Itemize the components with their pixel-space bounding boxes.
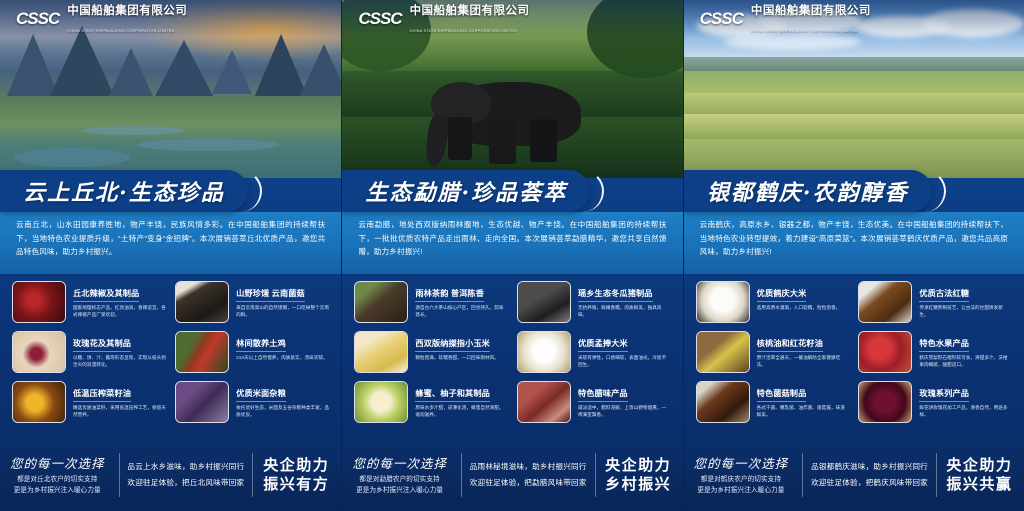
product-grid: 优质鹤庆大米 选用高原水灌溉，入口软糯，粒粒饱香。 优质古法红糖 传承红糖熬制技… bbox=[696, 281, 1012, 423]
logo-block: CSSC 中国船舶集团有限公司 CHINA STATE SHIPBUILDING… bbox=[684, 0, 1024, 38]
product-desc: 各式干菌、腌乳菌、油炸菌、菌菇酱，味道鲜美。 bbox=[757, 404, 850, 419]
product-card[interactable]: 瑶乡生态冬瓜猪制品 无抗养殖，鲜嫩香糯，肉质鲜美，独具风味。 bbox=[517, 281, 671, 323]
product-thumbnail bbox=[12, 381, 66, 423]
product-info: 核桃油和红花籽油 原汁活萃全通天，一餐油解防全家健康吃法。 bbox=[757, 331, 850, 369]
rose-product-photo-icon bbox=[859, 382, 911, 422]
footer-pledge-line-2: 更是为乡村振兴注入暖心力量 bbox=[694, 486, 789, 497]
cssc-logo-icon: CSSC bbox=[700, 9, 743, 29]
pig-photo-icon bbox=[518, 282, 570, 322]
panel-footer: 您的每一次选择 都是对鹤庆农户的切实支持 更是为乡村振兴注入暖心力量 品银都鹤庆… bbox=[684, 439, 1024, 511]
product-thumbnail bbox=[175, 331, 229, 373]
product-name: 特色腊味产品 bbox=[578, 389, 628, 402]
panel-title: 银都鹤庆·农韵醇香 bbox=[707, 175, 909, 207]
product-desc: 鹤庆雪梨籽石榴籽软可食，清甜多汁，沃柑果肉细腻，酸甜适口。 bbox=[919, 354, 1012, 369]
footer-slogan-line-1: 央企助力 bbox=[945, 456, 1014, 476]
panel-mengla: CSSC 中国船舶集团有限公司 CHINA STATE SHIPBUILDING… bbox=[341, 0, 682, 511]
footer-pledge-line-2: 更是为乡村振兴注入暖心力量 bbox=[10, 486, 105, 497]
hero-image-qiubei: CSSC 中国船舶集团有限公司 CHINA STATE SHIPBUILDING… bbox=[0, 0, 341, 178]
product-grid: 雨林茶韵 普洱陈香 源自古六大茶山核心产区，回甘持久，韵味悠长。 瑶乡生态冬瓜猪… bbox=[354, 281, 670, 423]
product-name: 特色水果产品 bbox=[919, 339, 969, 352]
product-name: 西双版纳搩指小玉米 bbox=[415, 339, 490, 352]
rice-photo-icon bbox=[518, 332, 570, 372]
product-name: 核桃油和红花籽油 bbox=[757, 339, 823, 352]
product-desc: 精选优质油菜籽，采用低温压榨工艺，保留天然营养。 bbox=[73, 404, 166, 419]
title-ribbon: 银都鹤庆·农韵醇香 bbox=[684, 170, 932, 212]
logo-text: 中国船舶集团有限公司 CHINA STATE SHIPBUILDING CORP… bbox=[67, 1, 187, 37]
footer-invite-line-2: 欢迎驻足体验，把勐腊风味带回家 bbox=[470, 475, 587, 491]
product-card[interactable]: 特色菌菇制品 各式干菌、腌乳菌、油炸菌、菌菇酱，味道鲜美。 bbox=[696, 381, 850, 423]
product-card[interactable]: 低温压榨菜籽油 精选优质油菜籽，采用低温压榨工艺，保留天然营养。 bbox=[12, 381, 166, 423]
product-thumbnail bbox=[175, 381, 229, 423]
product-thumbnail bbox=[354, 331, 408, 373]
logo-block: CSSC 中国船舶集团有限公司 CHINA STATE SHIPBUILDING… bbox=[342, 0, 682, 38]
product-info: 丘北辣椒及其制品 国家地理标志产品，红亮油润，香辣适宜，各式辣椒产品广受欢迎。 bbox=[73, 281, 166, 319]
product-info: 优质古法红糖 传承红糖熬制技艺，让古法的甘甜焕发新生。 bbox=[919, 281, 1012, 319]
product-info: 瑶乡生态冬瓜猪制品 无抗养殖，鲜嫩香糯，肉质鲜美，独具风味。 bbox=[578, 281, 671, 319]
hero-image-heqing: CSSC 中国船舶集团有限公司 CHINA STATE SHIPBUILDING… bbox=[684, 0, 1024, 178]
footer-invite-line-2: 欢迎驻足体验，把鹤庆风味带回家 bbox=[811, 475, 928, 491]
product-desc: 以糖、饼、汁、露等形态呈现，实现从枝头到舌尖的浪漫转化。 bbox=[73, 354, 166, 369]
product-desc: 米软有弹性，口感细软，表面油光，冷饭不回生。 bbox=[578, 354, 671, 369]
footer-script-headline: 您的每一次选择 bbox=[352, 453, 447, 472]
product-info: 优质鹤庆大米 选用高原水灌溉，入口软糯，粒粒饱香。 bbox=[757, 281, 850, 311]
product-desc: 选用高原水灌溉，入口软糯，粒粒饱香。 bbox=[757, 304, 850, 311]
puer-tea-photo-icon bbox=[355, 282, 407, 322]
footer-script-headline: 您的每一次选择 bbox=[694, 453, 789, 472]
cured-meat-photo-icon bbox=[518, 382, 570, 422]
product-info: 优质孟捧大米 米软有弹性，口感细软，表面油光，冷饭不回生。 bbox=[578, 331, 671, 369]
footer-pledge: 您的每一次选择 都是对鹤庆农户的切实支持 更是为乡村振兴注入暖心力量 bbox=[694, 453, 795, 496]
logo-company-en: CHINA STATE SHIPBUILDING CORPORATION LIM… bbox=[410, 29, 517, 33]
footer-pledge: 您的每一次选择 都是对丘北农户的切实支持 更是为乡村振兴注入暖心力量 bbox=[10, 453, 111, 496]
product-desc: 国家地理标志产品，红亮油润，香辣适宜，各式辣椒产品广受欢迎。 bbox=[73, 304, 166, 319]
footer-slogan-line-2: 振兴有方 bbox=[261, 475, 331, 495]
product-name: 丘北辣椒及其制品 bbox=[73, 289, 139, 302]
brown-sugar-photo-icon bbox=[859, 282, 911, 322]
title-ribbon: 云上丘北·生态珍品 bbox=[0, 170, 248, 212]
product-card[interactable]: 核桃油和红花籽油 原汁活萃全通天，一餐油解防全家健康吃法。 bbox=[696, 331, 850, 373]
footer-divider bbox=[461, 453, 462, 497]
product-name: 优质古法红糖 bbox=[919, 289, 969, 302]
product-thumbnail bbox=[175, 281, 229, 323]
footer-invite: 品云上水乡滋味，助乡村振兴同行 欢迎驻足体验，把丘北风味带回家 bbox=[127, 459, 244, 490]
footer-script-headline: 您的每一次选择 bbox=[10, 453, 105, 472]
product-card[interactable]: 特色水果产品 鹤庆雪梨籽石榴籽软可食，清甜多汁，沃柑果肉细腻，酸甜适口。 bbox=[858, 331, 1012, 373]
product-desc: 原汁活萃全通天，一餐油解防全家健康吃法。 bbox=[757, 354, 850, 369]
product-thumbnail bbox=[696, 331, 750, 373]
product-card[interactable]: 山野珍馐 云南菌菇 来自云南高山的自然馈赠，一口吃掉整个云南的鲜。 bbox=[175, 281, 329, 323]
product-grid: 丘北辣椒及其制品 国家地理标志产品，红亮油润，香辣适宜，各式辣椒产品广受欢迎。 … bbox=[12, 281, 329, 423]
footer-pledge: 您的每一次选择 都是对勐腊农户的切实支持 更是为乡村振兴注入暖心力量 bbox=[352, 453, 453, 496]
product-card[interactable]: 优质米面杂粮 依托优好生态，米面及五谷杂粮种类丰富，品质优良。 bbox=[175, 381, 329, 423]
hero-image-mengla: CSSC 中国船舶集团有限公司 CHINA STATE SHIPBUILDING… bbox=[342, 0, 682, 178]
product-card[interactable]: 优质鹤庆大米 选用高原水灌溉，入口软糯，粒粒饱香。 bbox=[696, 281, 850, 323]
product-desc: 传承红糖熬制技艺，让古法的甘甜焕发新生。 bbox=[919, 304, 1012, 319]
corn-photo-icon bbox=[355, 332, 407, 372]
product-card[interactable]: 优质古法红糖 传承红糖熬制技艺，让古法的甘甜焕发新生。 bbox=[858, 281, 1012, 323]
product-thumbnail bbox=[12, 281, 66, 323]
title-ribbon: 生态勐腊·珍品荟萃 bbox=[342, 170, 590, 212]
fruit-photo-icon bbox=[859, 332, 911, 372]
product-card[interactable]: 特色腊味产品 咸淡适中，腊料浸解，上等山野柴烟熏，一烤满室飘香。 bbox=[517, 381, 671, 423]
product-info: 林间散养土鸡 210天以上自然慢养，肉质紧实，汤味浓郁。 bbox=[236, 331, 329, 361]
logo-company-en: CHINA STATE SHIPBUILDING CORPORATION LIM… bbox=[751, 29, 858, 33]
product-card[interactable]: 玫瑰系列产品 鲜花饼玫瑰花加工产品，清香自然，用途多样。 bbox=[858, 381, 1012, 423]
product-info: 西双版纳搩指小玉米 颗粒饱满，软糯香甜，一口回味雨林风。 bbox=[415, 331, 508, 361]
intro-paragraph: 云南勐腊，地处西双版纳雨林腹地，生态优越、物产丰饶。在中国船舶集团的持续帮扶下，… bbox=[358, 218, 666, 259]
logo-text: 中国船舶集团有限公司 CHINA STATE SHIPBUILDING CORP… bbox=[751, 1, 871, 37]
chicken-photo-icon bbox=[176, 332, 228, 372]
chili-photo-icon bbox=[13, 282, 65, 322]
product-name: 优质孟捧大米 bbox=[578, 339, 628, 352]
product-thumbnail bbox=[858, 381, 912, 423]
product-thumbnail bbox=[354, 281, 408, 323]
product-thumbnail bbox=[517, 281, 571, 323]
footer-divider bbox=[936, 453, 937, 497]
product-info: 山野珍馐 云南菌菇 来自云南高山的自然馈赠，一口吃掉整个云南的鲜。 bbox=[236, 281, 329, 319]
product-desc: 210天以上自然慢养，肉质紧实，汤味浓郁。 bbox=[236, 354, 329, 361]
product-name: 蜂蜜、柚子和其制品 bbox=[415, 389, 490, 402]
footer-slogan: 央企助力 振兴共赢 bbox=[945, 456, 1014, 495]
footer-slogan-line-2: 振兴共赢 bbox=[945, 475, 1014, 495]
heqing-rice-photo-icon bbox=[697, 282, 749, 322]
product-desc: 鲜花饼玫瑰花加工产品，清香自然，用途多样。 bbox=[919, 404, 1012, 419]
logo-company-en: CHINA STATE SHIPBUILDING CORPORATION LIM… bbox=[67, 29, 174, 33]
footer-invite-line-1: 品云上水乡滋味，助乡村振兴同行 bbox=[127, 459, 244, 475]
product-name: 优质鹤庆大米 bbox=[757, 289, 807, 302]
product-card[interactable]: 林间散养土鸡 210天以上自然慢养，肉质紧实，汤味浓郁。 bbox=[175, 331, 329, 373]
product-info: 玫瑰花及其制品 以糖、饼、汁、露等形态呈现，实现从枝头到舌尖的浪漫转化。 bbox=[73, 331, 166, 369]
intro-paragraph: 云南鹤庆，高原水乡、银器之都，物产丰饶，生态优美。在中国船舶集团的持续帮扶下，当… bbox=[700, 218, 1008, 259]
footer-invite-line-1: 品银都鹤庆滋味，助乡村振兴同行 bbox=[811, 459, 928, 475]
walnut-oil-photo-icon bbox=[697, 332, 749, 372]
logo-block: CSSC 中国船舶集团有限公司 CHINA STATE SHIPBUILDING… bbox=[0, 0, 341, 38]
footer-invite-line-2: 欢迎驻足体验，把丘北风味带回家 bbox=[127, 475, 244, 491]
product-card[interactable]: 丘北辣椒及其制品 国家地理标志产品，红亮油润，香辣适宜，各式辣椒产品广受欢迎。 bbox=[12, 281, 166, 323]
product-desc: 源自古六大茶山核心产区，回甘持久，韵味悠长。 bbox=[415, 304, 508, 319]
product-desc: 无抗养殖，鲜嫩香糯，肉质鲜美，独具风味。 bbox=[578, 304, 671, 319]
product-thumbnail bbox=[858, 331, 912, 373]
footer-pledge-line-1: 都是对鹤庆农户的切实支持 bbox=[694, 475, 789, 486]
product-desc: 颗粒饱满，软糯香甜，一口回味雨林风。 bbox=[415, 354, 508, 361]
footer-slogan: 央企助力 乡村振兴 bbox=[604, 456, 673, 495]
product-info: 雨林茶韵 普洱陈香 源自古六大茶山核心产区，回甘持久，韵味悠长。 bbox=[415, 281, 508, 319]
product-card[interactable]: 西双版纳搩指小玉米 颗粒饱满，软糯香甜，一口回味雨林风。 bbox=[354, 331, 508, 373]
footer-slogan-line-1: 央企助力 bbox=[261, 456, 331, 476]
product-info: 优质米面杂粮 依托优好生态，米面及五谷杂粮种类丰富，品质优良。 bbox=[236, 381, 329, 419]
rapeseed-oil-photo-icon bbox=[13, 382, 65, 422]
footer-slogan-line-1: 央企助力 bbox=[604, 456, 673, 476]
product-card[interactable]: 优质孟捧大米 米软有弹性，口感细软，表面油光，冷饭不回生。 bbox=[517, 331, 671, 373]
mushroom-photo-icon bbox=[176, 282, 228, 322]
product-name: 林间散养土鸡 bbox=[236, 339, 286, 352]
footer-divider bbox=[802, 453, 803, 497]
product-thumbnail bbox=[517, 381, 571, 423]
cssc-logo-icon: CSSC bbox=[358, 9, 401, 29]
product-thumbnail bbox=[354, 381, 408, 423]
product-info: 特色菌菇制品 各式干菌、腌乳菌、油炸菌、菌菇酱，味道鲜美。 bbox=[757, 381, 850, 419]
footer-divider bbox=[252, 453, 253, 497]
product-name: 山野珍馐 云南菌菇 bbox=[236, 289, 305, 302]
panel-title: 生态勐腊·珍品荟萃 bbox=[365, 175, 567, 207]
logo-company-cn: 中国船舶集团有限公司 bbox=[410, 5, 530, 17]
honey-pomelo-photo-icon bbox=[355, 382, 407, 422]
cssc-logo-icon: CSSC bbox=[16, 9, 59, 29]
product-info: 玫瑰系列产品 鲜花饼玫瑰花加工产品，清香自然，用途多样。 bbox=[919, 381, 1012, 419]
footer-pledge-line-1: 都是对丘北农户的切实支持 bbox=[10, 475, 105, 486]
footer-divider bbox=[119, 453, 120, 497]
product-name: 玫瑰系列产品 bbox=[919, 389, 969, 402]
product-info: 特色水果产品 鹤庆雪梨籽石榴籽软可食，清甜多汁，沃柑果肉细腻，酸甜适口。 bbox=[919, 331, 1012, 369]
rose-cake-photo-icon bbox=[13, 332, 65, 372]
footer-pledge-line-1: 都是对勐腊农户的切实支持 bbox=[352, 475, 447, 486]
product-name: 雨林茶韵 普洱陈香 bbox=[415, 289, 484, 302]
panel-qiubei: CSSC 中国船舶集团有限公司 CHINA STATE SHIPBUILDING… bbox=[0, 0, 341, 511]
logo-company-cn: 中国船舶集团有限公司 bbox=[751, 5, 871, 17]
product-thumbnail bbox=[858, 281, 912, 323]
footer-invite: 品雨林秘境滋味，助乡村振兴同行 欢迎驻足体验，把勐腊风味带回家 bbox=[470, 459, 587, 490]
mushroom-product-photo-icon bbox=[697, 382, 749, 422]
product-name: 玫瑰花及其制品 bbox=[73, 339, 131, 352]
product-info: 特色腊味产品 咸淡适中，腊料浸解，上等山野柴烟熏，一烤满室飘香。 bbox=[578, 381, 671, 419]
product-card[interactable]: 蜂蜜、柚子和其制品 原味水多汁甜，皮薄化渣，蜂蜜自然清甜，滋润滋养。 bbox=[354, 381, 508, 423]
panel-heqing: CSSC 中国船舶集团有限公司 CHINA STATE SHIPBUILDING… bbox=[683, 0, 1024, 511]
footer-pledge-line-2: 更是为乡村振兴注入暖心力量 bbox=[352, 486, 447, 497]
product-desc: 咸淡适中，腊料浸解，上等山野柴烟熏，一烤满室飘香。 bbox=[578, 404, 671, 419]
logo-text: 中国船舶集团有限公司 CHINA STATE SHIPBUILDING CORP… bbox=[410, 1, 530, 37]
panel-footer: 您的每一次选择 都是对丘北农户的切实支持 更是为乡村振兴注入暖心力量 品云上水乡… bbox=[0, 439, 341, 511]
product-desc: 来自云南高山的自然馈赠，一口吃掉整个云南的鲜。 bbox=[236, 304, 329, 319]
product-name: 瑶乡生态冬瓜猪制品 bbox=[578, 289, 653, 302]
logo-company-cn: 中国船舶集团有限公司 bbox=[67, 5, 187, 17]
panel-footer: 您的每一次选择 都是对勐腊农户的切实支持 更是为乡村振兴注入暖心力量 品雨林秘境… bbox=[342, 439, 682, 511]
footer-slogan-line-2: 乡村振兴 bbox=[604, 475, 673, 495]
footer-invite: 品银都鹤庆滋味，助乡村振兴同行 欢迎驻足体验，把鹤庆风味带回家 bbox=[811, 459, 928, 490]
footer-divider bbox=[595, 453, 596, 497]
product-thumbnail bbox=[517, 331, 571, 373]
intro-paragraph: 云南丘北，山水田园康养胜地，物产丰饶，民族风情多彩。在中国船舶集团的持续帮扶下，… bbox=[16, 218, 325, 259]
product-info: 蜂蜜、柚子和其制品 原味水多汁甜，皮薄化渣，蜂蜜自然清甜，滋润滋养。 bbox=[415, 381, 508, 419]
product-thumbnail bbox=[696, 381, 750, 423]
poster-board: CSSC 中国船舶集团有限公司 CHINA STATE SHIPBUILDING… bbox=[0, 0, 1024, 511]
product-card[interactable]: 雨林茶韵 普洱陈香 源自古六大茶山核心产区，回甘持久，韵味悠长。 bbox=[354, 281, 508, 323]
footer-slogan: 央企助力 振兴有方 bbox=[261, 456, 331, 495]
product-info: 低温压榨菜籽油 精选优质油菜籽，采用低温压榨工艺，保留天然营养。 bbox=[73, 381, 166, 419]
product-name: 特色菌菇制品 bbox=[757, 389, 807, 402]
product-name: 优质米面杂粮 bbox=[236, 389, 286, 402]
product-name: 低温压榨菜籽油 bbox=[73, 389, 131, 402]
product-thumbnail bbox=[12, 331, 66, 373]
product-desc: 依托优好生态，米面及五谷杂粮种类丰富，品质优良。 bbox=[236, 404, 329, 419]
panel-title: 云上丘北·生态珍品 bbox=[23, 175, 225, 207]
footer-invite-line-1: 品雨林秘境滋味，助乡村振兴同行 bbox=[470, 459, 587, 475]
grain-photo-icon bbox=[176, 382, 228, 422]
product-thumbnail bbox=[696, 281, 750, 323]
product-card[interactable]: 玫瑰花及其制品 以糖、饼、汁、露等形态呈现，实现从枝头到舌尖的浪漫转化。 bbox=[12, 331, 166, 373]
product-desc: 原味水多汁甜，皮薄化渣，蜂蜜自然清甜，滋润滋养。 bbox=[415, 404, 508, 419]
